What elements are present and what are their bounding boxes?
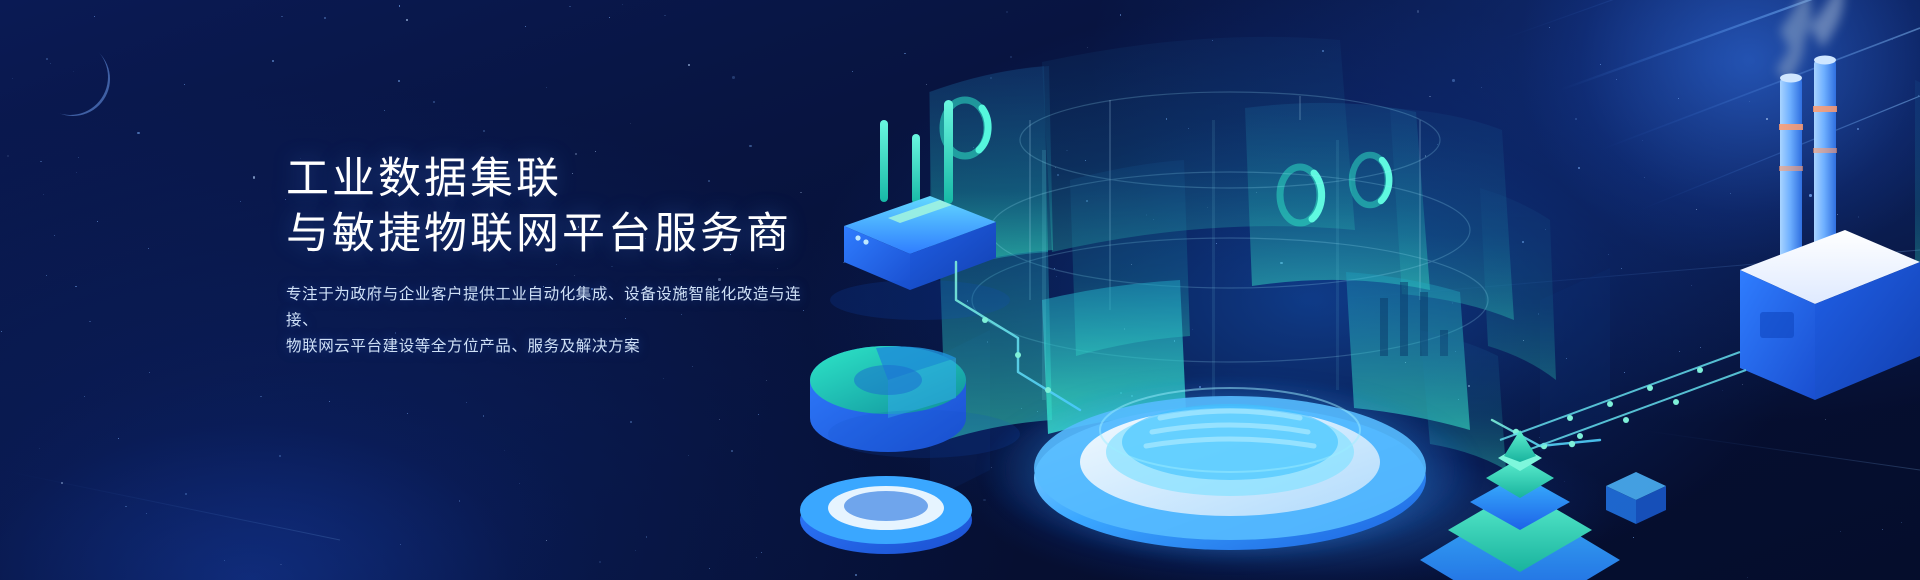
- iot-illustration: [780, 0, 1920, 580]
- glowing-disc-platform: [980, 375, 1480, 565]
- hero-subtitle-line-2: 物联网云平台建设等全方位产品、服务及解决方案: [286, 334, 826, 360]
- hero-title-line-2: 与敏捷物联网平台服务商: [286, 207, 906, 262]
- hero-copy: 工业数据集联 与敏捷物联网平台服务商 专注于为政府与企业客户提供工业自动化集成、…: [286, 152, 906, 360]
- data-beam: [1500, 352, 1746, 458]
- hero-subtitle-line-1: 专注于为政府与企业客户提供工业自动化集成、设备设施智能化改造与连接、: [286, 282, 826, 334]
- hero-banner: 工业数据集联 与敏捷物联网平台服务商 专注于为政府与企业客户提供工业自动化集成、…: [0, 0, 1920, 580]
- factory-smokestacks: [1740, 0, 1920, 400]
- floating-cubes: [1606, 472, 1666, 524]
- ring-platform: [800, 476, 972, 554]
- hero-title-line-1: 工业数据集联: [286, 152, 906, 207]
